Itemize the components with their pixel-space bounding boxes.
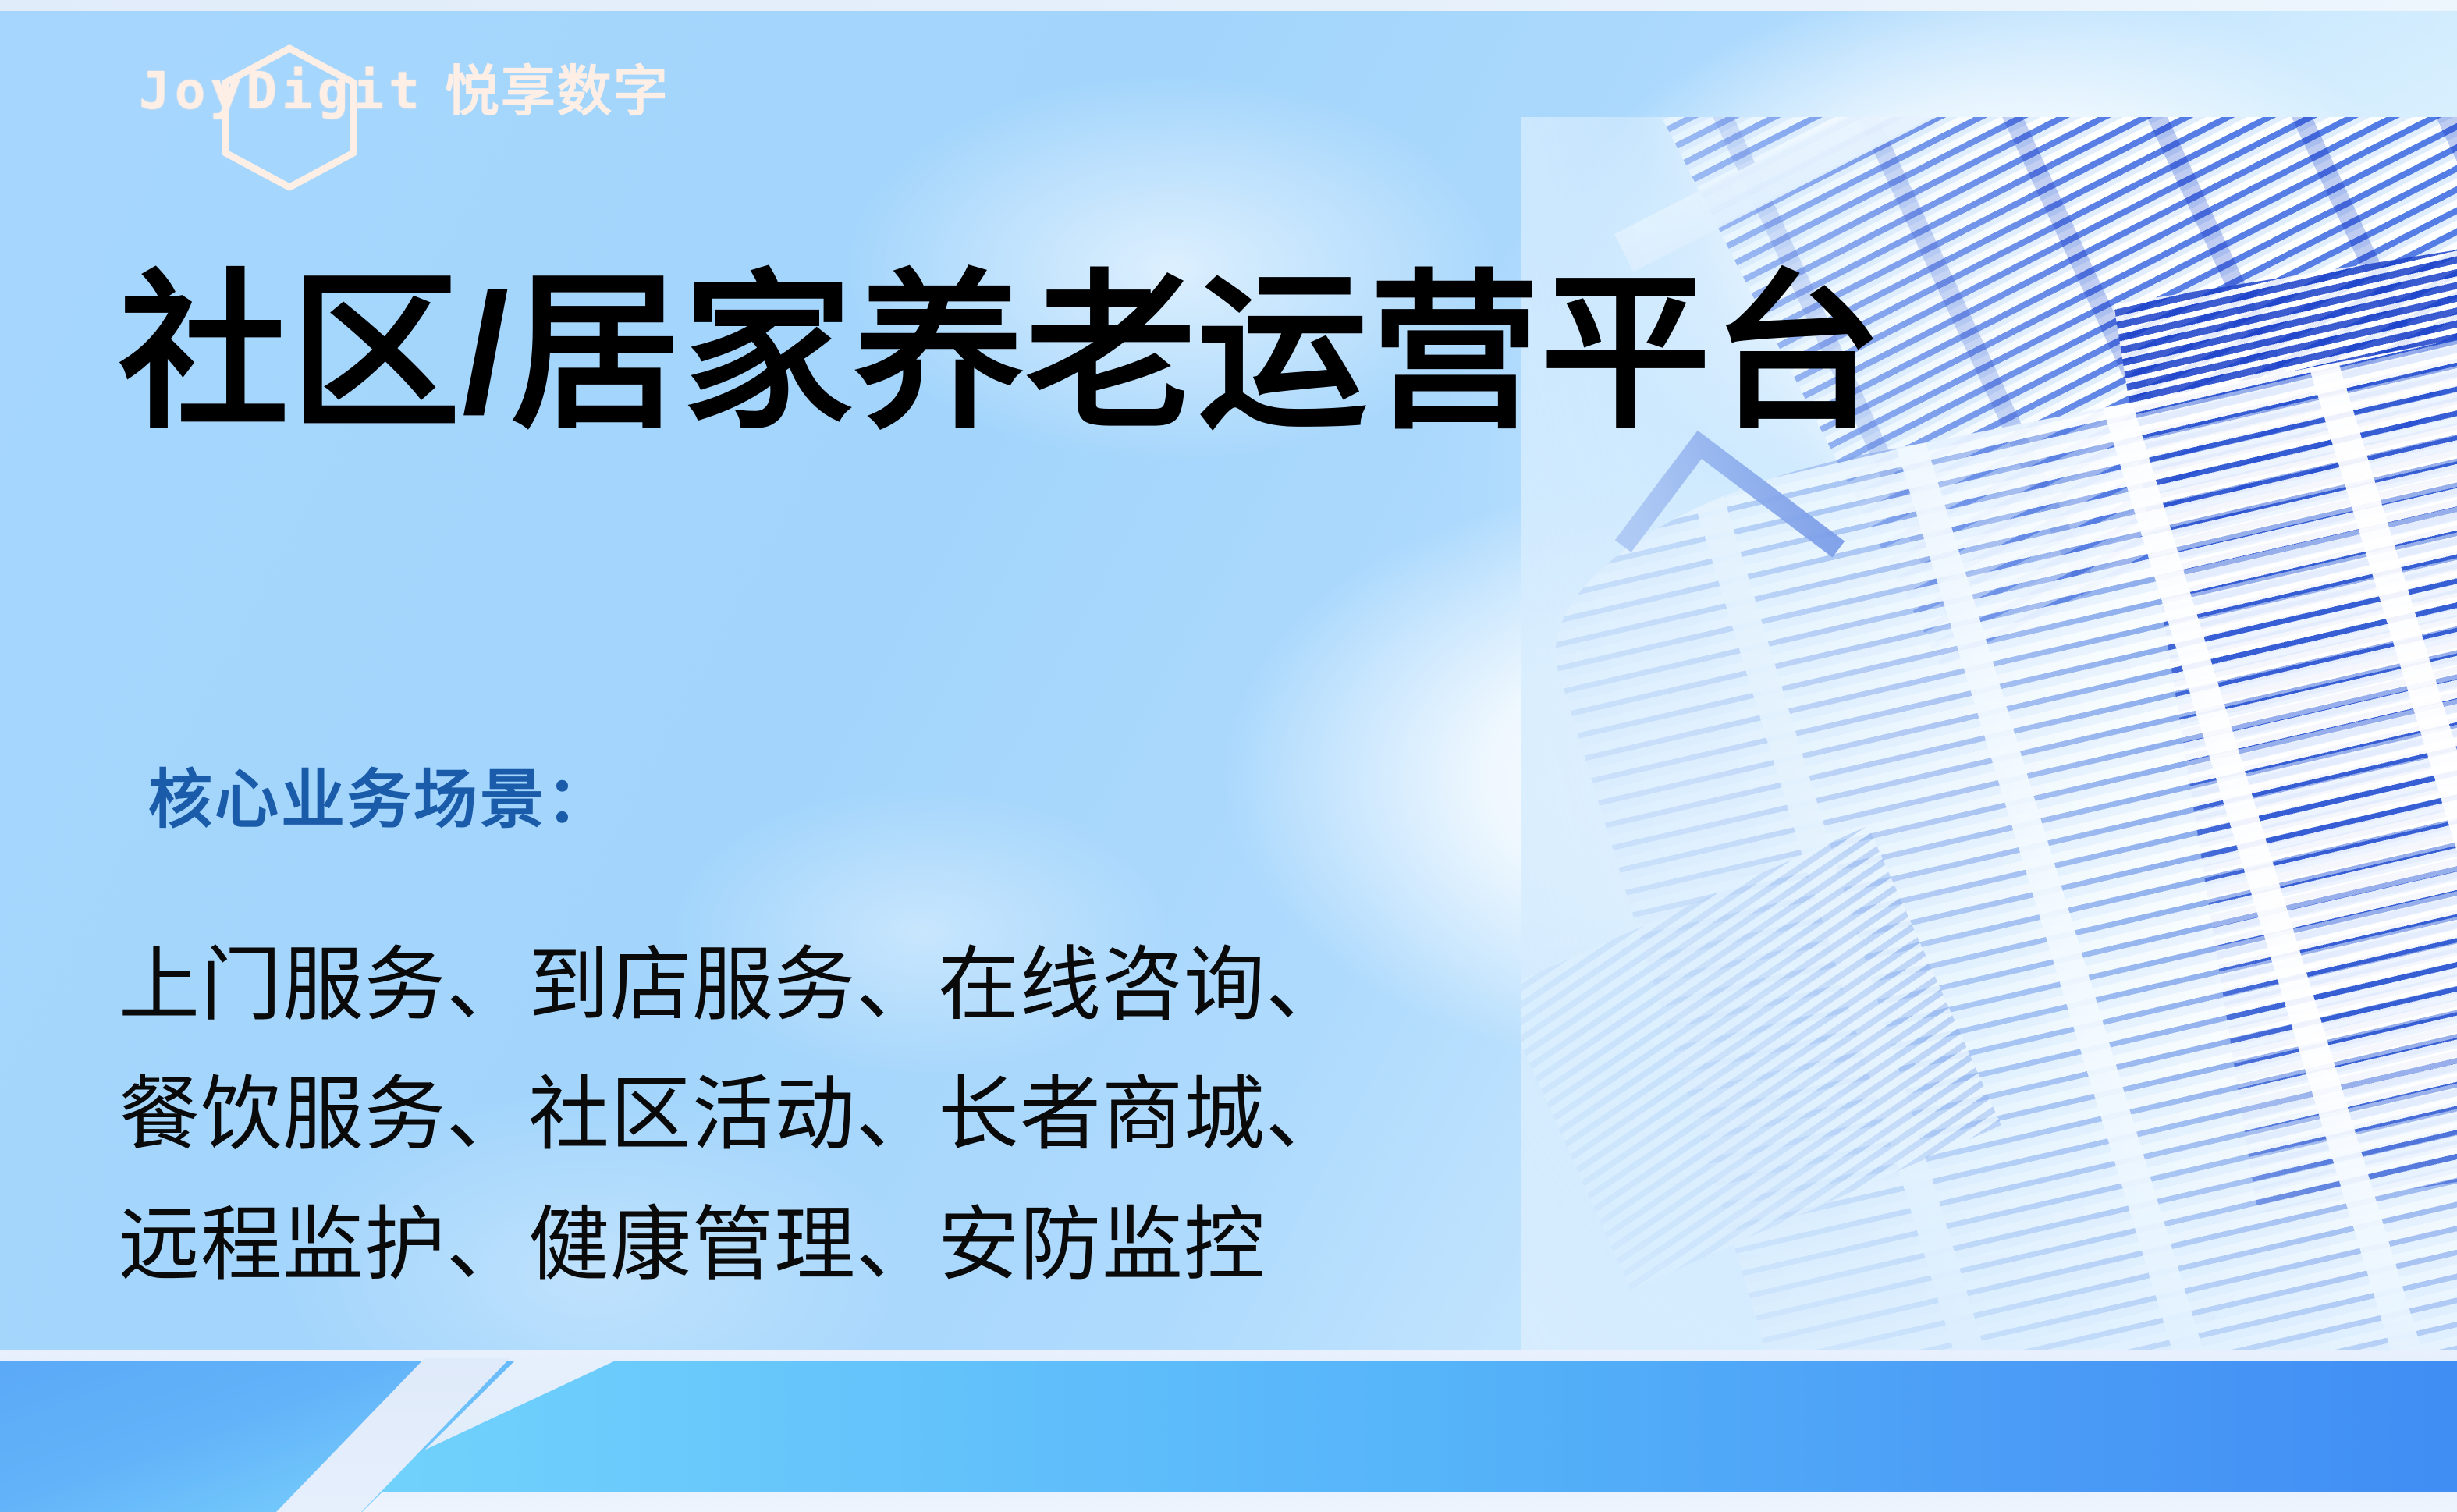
top-edge-strip (0, 0, 2457, 11)
scenario-line: 餐饮服务、社区活动、长者商城、 (119, 1050, 1347, 1180)
page-title: 社区/居家养老运营平台 (119, 264, 1884, 444)
wordmark-chinese: 悦享数字 (445, 64, 669, 119)
scenario-line: 上门服务、到店服务、在线咨询、 (119, 921, 1347, 1050)
brand-logo: JoyDigit 悦享数字 (139, 64, 669, 119)
wordmark-latin: JoyDigit (139, 66, 424, 117)
scenario-list: 上门服务、到店服务、在线咨询、 餐饮服务、社区活动、长者商城、 远程监护、健康管… (119, 921, 1347, 1310)
bottom-decorative-band (0, 1350, 2457, 1512)
slide-root: JoyDigit 悦享数字 社区/居家养老运营平台 核心业务场景： 上门服务、到… (0, 0, 2457, 1512)
band-parallelogram-right (336, 1361, 2457, 1492)
scenario-line: 远程监护、健康管理、安防监控 (119, 1180, 1347, 1310)
section-heading: 核心业务场景： (148, 768, 612, 832)
